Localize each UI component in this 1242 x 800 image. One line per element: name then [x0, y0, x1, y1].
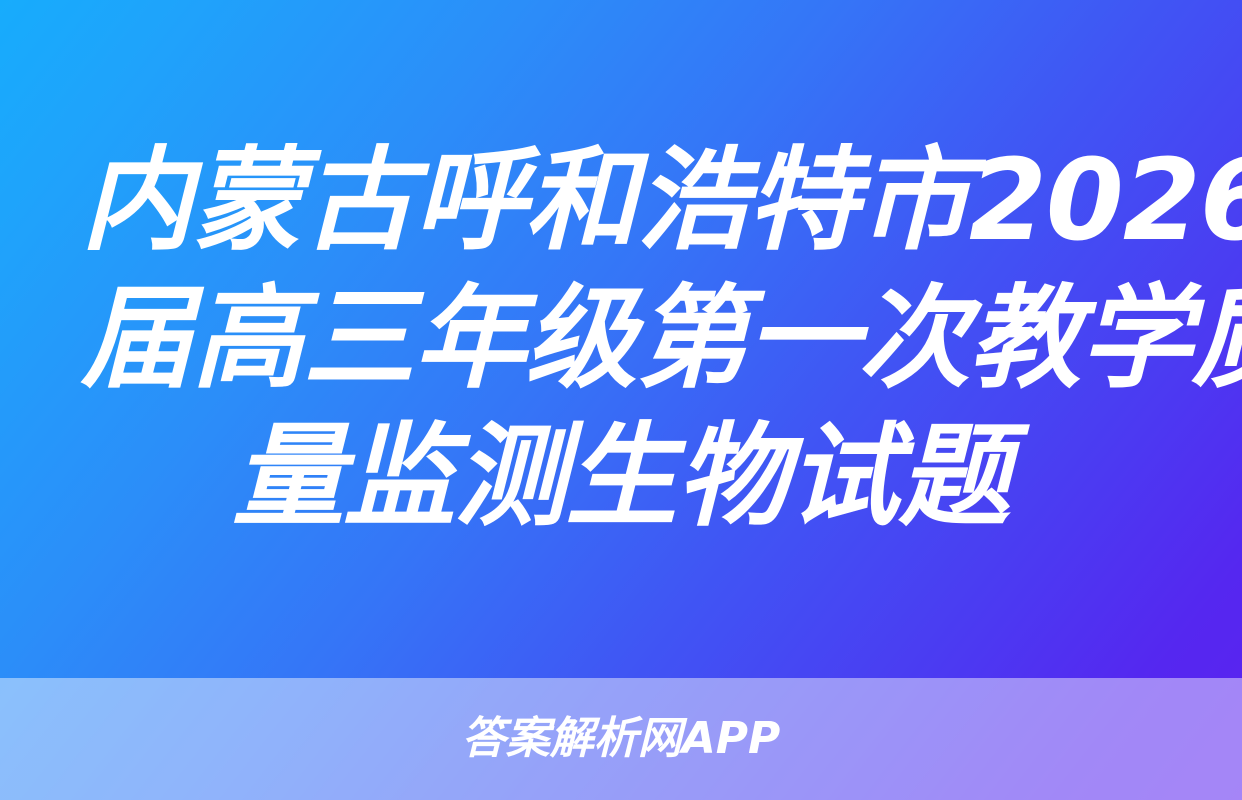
title-block: 内蒙古呼和浩特市2026 届高三年级第一次教学质 量监测生物试题	[0, 0, 1242, 678]
title-line-3: 量监测生物试题	[81, 408, 1161, 546]
title-lines: 内蒙古呼和浩特市2026 届高三年级第一次教学质 量监测生物试题	[81, 132, 1161, 546]
watermark-band: 答案解析网APP	[0, 678, 1242, 800]
poster-canvas: 内蒙古呼和浩特市2026 届高三年级第一次教学质 量监测生物试题 答案解析网AP…	[0, 0, 1242, 800]
title-line-1: 内蒙古呼和浩特市2026	[81, 132, 1161, 270]
watermark-text: 答案解析网APP	[462, 715, 781, 763]
title-line-2: 届高三年级第一次教学质	[81, 270, 1161, 408]
